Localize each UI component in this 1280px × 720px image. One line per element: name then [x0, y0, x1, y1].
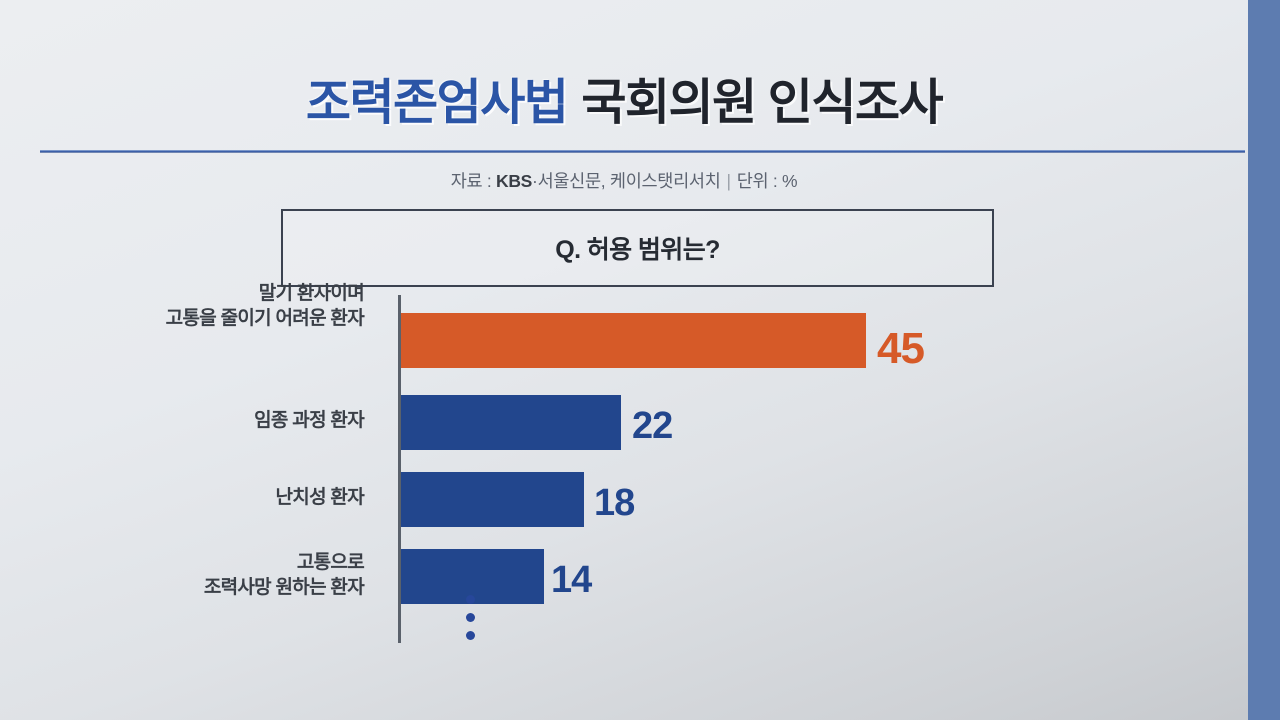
source-separator: |: [727, 171, 731, 191]
bar-label-line2: 고통을 줄이기 어려운 환자: [0, 307, 364, 332]
bar-chart: 말기 환자이며 고통을 줄이기 어려운 환자 45 임종 과정 환자 22 난치…: [0, 295, 1248, 645]
bar-value: 14: [551, 561, 591, 599]
bar-label: 말기 환자이며 고통을 줄이기 어려운 환자: [0, 282, 380, 331]
bar-rect: [401, 395, 621, 450]
bar-label-line1: 난치성 환자: [0, 486, 364, 511]
question-text: Q. 허용 범위는?: [555, 230, 720, 266]
bar-label-line1: 고통으로: [0, 551, 364, 576]
more-items-ellipsis-icon: [466, 595, 475, 640]
source-prefix: 자료 :: [451, 171, 496, 191]
source-unit: 단위 : %: [737, 171, 798, 191]
bar-label-line1: 임종 과정 환자: [0, 409, 364, 434]
source-partners: ·서울신문, 케이스탯리서치: [532, 171, 720, 191]
ellipsis-dot: [466, 595, 475, 604]
bar-value: 18: [594, 484, 634, 522]
bar-rect: [401, 472, 584, 527]
source-broadcaster: KBS: [496, 171, 532, 191]
right-edge-color-band: [1248, 0, 1280, 720]
bar-value: 45: [877, 327, 924, 371]
bar-rect: [401, 313, 866, 368]
page-title: 조력존엄사법국회의원 인식조사: [0, 78, 1248, 129]
bar-label: 난치성 환자: [0, 486, 380, 511]
question-box: Q. 허용 범위는?: [281, 209, 994, 287]
title-highlight-text: 조력존엄사법: [306, 78, 567, 129]
title-rest-text: 국회의원 인식조사: [581, 78, 942, 129]
bar-label-line2: 조력사망 원하는 환자: [0, 576, 364, 601]
ellipsis-dot: [466, 613, 475, 622]
bar-label: 임종 과정 환자: [0, 409, 380, 434]
bar-value: 22: [632, 407, 672, 445]
bar-label-line1: 말기 환자이며: [0, 282, 364, 307]
source-attribution: 자료 : KBS·서울신문, 케이스탯리서치|단위 : %: [0, 168, 1248, 193]
title-divider: [40, 150, 1245, 153]
ellipsis-dot: [466, 631, 475, 640]
bar-label: 고통으로 조력사망 원하는 환자: [0, 551, 380, 600]
